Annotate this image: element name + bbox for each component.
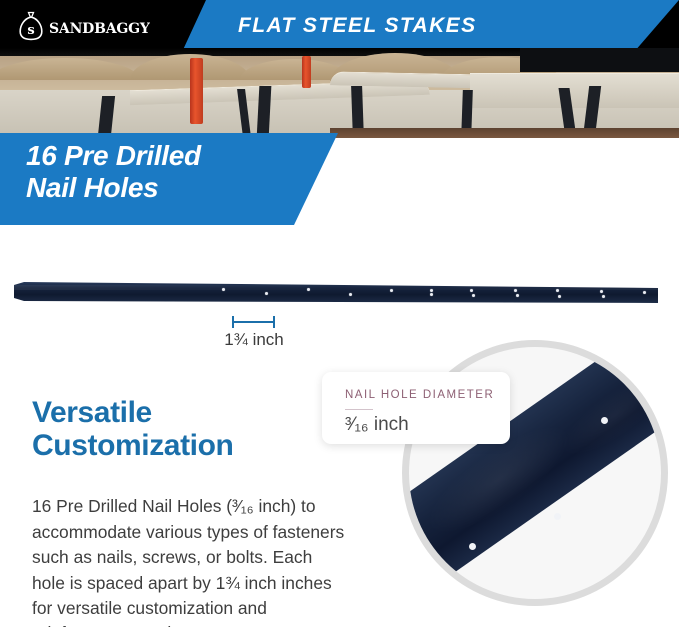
dimension-cap-left — [232, 316, 234, 328]
nail-hole — [643, 291, 646, 294]
svg-text:s: s — [27, 23, 34, 38]
banner-text: 16 Pre Drilled Nail Holes — [26, 140, 326, 205]
heading-line-1: Versatile — [32, 396, 352, 429]
nail-hole — [600, 290, 603, 293]
section-heading: Versatile Customization — [32, 396, 352, 462]
nail-hole — [265, 292, 268, 295]
callout-divider — [345, 409, 373, 410]
stake-highlight — [14, 285, 658, 290]
header-title: FLAT STEEL STAKES — [238, 0, 476, 52]
nail-hole — [558, 295, 561, 298]
nail-hole — [470, 289, 473, 292]
banner-line-1: 16 Pre Drilled — [26, 140, 326, 172]
dimension-cap-right — [273, 316, 275, 328]
photo-dark-region — [520, 48, 679, 72]
orange-pipe — [190, 58, 203, 124]
product-stake-image — [0, 278, 679, 312]
callout-card: NAIL HOLE DIAMETER ³⁄₁₆ inch — [322, 372, 510, 444]
dimension-line — [232, 321, 275, 323]
dimension-label: 1¾ inch — [190, 330, 318, 350]
callout-label: NAIL HOLE DIAMETER — [345, 389, 494, 401]
brand-name: sandbaggy — [49, 16, 150, 37]
nail-hole — [556, 289, 559, 292]
nail-hole — [602, 295, 605, 298]
nail-hole — [349, 293, 352, 296]
body-paragraph: 16 Pre Drilled Nail Holes (³⁄₁₆ inch) to… — [32, 494, 347, 627]
concrete-wall — [470, 73, 679, 108]
hero-photo — [0, 48, 679, 138]
magnified-nail-hole — [469, 543, 476, 550]
orange-pipe — [302, 56, 311, 88]
sandbag-icon: s — [18, 11, 44, 41]
page-header: s sandbaggy FLAT STEEL STAKES — [0, 0, 679, 52]
nail-hole — [307, 288, 310, 291]
heading-line-2: Customization — [32, 429, 352, 462]
infographic-page: s sandbaggy FLAT STEEL STAKES — [0, 0, 679, 627]
nail-hole — [430, 293, 433, 296]
nail-hole — [222, 288, 225, 291]
callout-value: ³⁄₁₆ inch — [345, 414, 409, 436]
dimension-bracket — [232, 316, 275, 328]
magnified-nail-hole — [554, 513, 561, 520]
banner-line-2: Nail Holes — [26, 172, 326, 204]
nail-hole — [516, 294, 519, 297]
nail-hole — [472, 294, 475, 297]
nail-hole — [514, 289, 517, 292]
magnified-nail-hole — [601, 417, 608, 424]
brand-logo: s sandbaggy — [18, 9, 150, 43]
nail-hole — [430, 289, 433, 292]
wood-form-board — [330, 128, 679, 138]
nail-hole — [390, 289, 393, 292]
